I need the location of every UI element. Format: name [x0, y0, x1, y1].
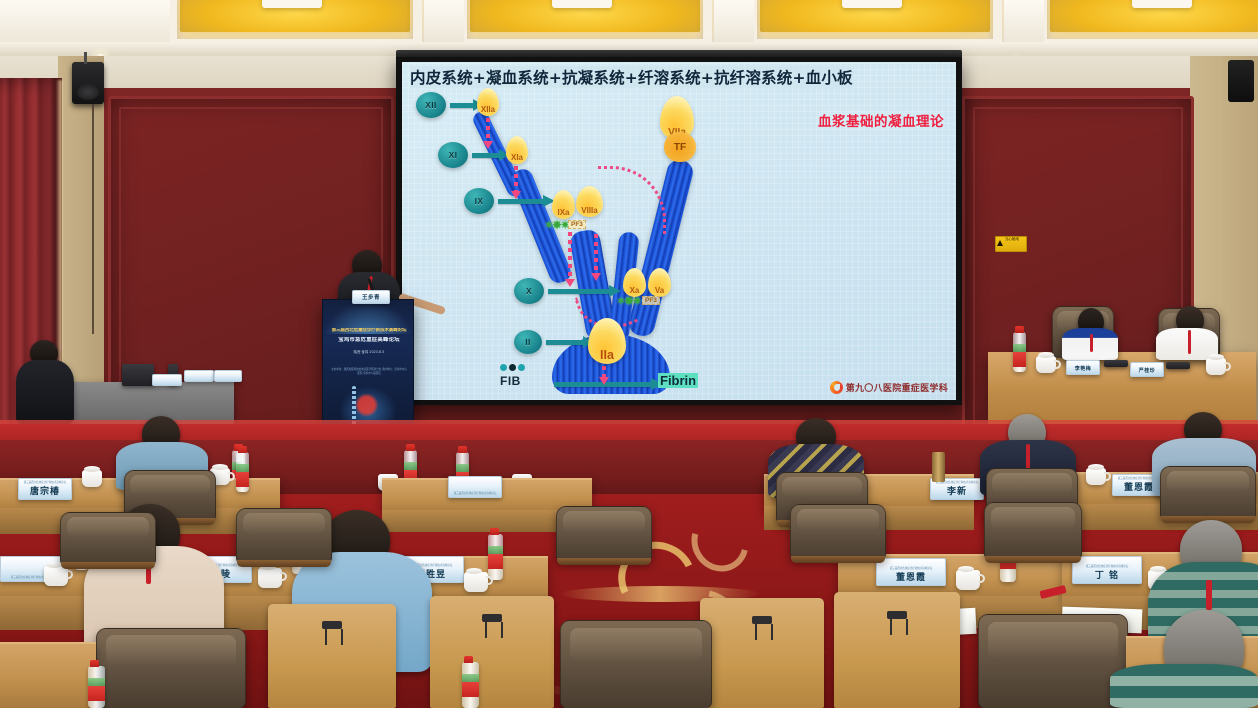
- chair-frame: [985, 556, 1081, 563]
- bottle-cap: [406, 444, 415, 451]
- factor-xia: XIa: [506, 136, 528, 164]
- covered-chair[interactable]: [268, 604, 396, 708]
- audience-chair[interactable]: [236, 508, 332, 564]
- conference-hall-photo: 当心触电 内皮系统+凝血系统+抗凝系统+纤溶系统+抗纤溶系统+血小板 血浆基础的…: [0, 0, 1258, 708]
- warning-triangle-icon: [997, 240, 1003, 246]
- high-voltage-warning-sign: 当心触电: [995, 236, 1027, 252]
- arrow-xii-to-xiia: [450, 103, 474, 108]
- cup-lid: [1088, 464, 1104, 470]
- av-technician-body: [16, 360, 74, 424]
- slide-subtitle: 血浆基础的凝血理论: [818, 110, 944, 130]
- nameplate-name: 董恩霞: [896, 570, 926, 583]
- water-bottle[interactable]: [1013, 332, 1026, 372]
- lectern-nameplate: 王步青: [352, 290, 390, 304]
- audience-chair[interactable]: [556, 506, 652, 562]
- slide-footer-logo: 第九〇八医院重症医学科: [830, 381, 948, 394]
- factor-ixa: IXa: [552, 190, 575, 219]
- fib-dot: [518, 364, 525, 371]
- water-bottle[interactable]: [88, 666, 105, 708]
- cup-lid: [958, 566, 974, 572]
- arrow-ii-to-iia: [546, 340, 584, 345]
- feedback-arrow-xiia: [486, 118, 490, 142]
- factor-label: XI: [449, 150, 458, 160]
- factor-label: TF: [674, 142, 686, 153]
- nameplate-name: 董恩霞: [1124, 480, 1154, 493]
- panelist-2-lanyard: [1188, 330, 1191, 354]
- bottle-label: [1013, 352, 1026, 367]
- loudspeaker: [72, 62, 104, 104]
- front-chair[interactable]: [96, 628, 246, 708]
- loudspeaker: [1228, 60, 1254, 102]
- bottle-label: [236, 472, 249, 487]
- chair-cover-clip: [482, 614, 502, 622]
- fibrinogen-molecule-icon: [500, 364, 525, 371]
- tea-cup[interactable]: [1086, 468, 1106, 485]
- desk-nameplate: [184, 370, 214, 382]
- tea-cup[interactable]: [1036, 356, 1056, 373]
- bottle-cap: [458, 446, 467, 453]
- chair-frame: [557, 558, 651, 565]
- audience-chair[interactable]: [1160, 466, 1256, 520]
- bottle-label: [88, 686, 105, 701]
- factor-viiia: VIIIa: [576, 186, 603, 217]
- audience-chair[interactable]: [60, 512, 156, 566]
- bottle-cap: [464, 656, 473, 663]
- lectern-banner-top-line: 第三届西北危重症诊疗新技术高峰论坛: [327, 328, 411, 334]
- chair-frame: [61, 562, 155, 569]
- audience-lanyard: [1026, 444, 1030, 470]
- factor-label: VIIIa: [581, 206, 597, 215]
- panel-nameplate: 严桂珍: [1130, 362, 1164, 377]
- chair-cover-clip: [887, 611, 907, 619]
- panelist-1-lanyard: [1090, 334, 1093, 352]
- chair-cover-clip: [752, 616, 772, 624]
- factor-xiia: XIIa: [477, 88, 499, 116]
- covered-chair[interactable]: [430, 596, 554, 708]
- factor-ix: IX: [464, 188, 494, 214]
- fibrin-label: Fibrin: [658, 373, 698, 388]
- ceiling-light-box: [842, 0, 902, 8]
- cup-lid: [1038, 352, 1054, 358]
- pf3-label: PF3: [642, 296, 660, 305]
- fibrinogen-label: FIB: [500, 374, 521, 388]
- feedback-arrow-xia: [514, 166, 518, 192]
- arrow-ix-to-ixa: [498, 199, 544, 204]
- bottle-label: [462, 682, 479, 697]
- cup-lid: [466, 568, 482, 574]
- speaker-cable: [92, 104, 94, 334]
- audience-chair[interactable]: [790, 504, 886, 560]
- audience-lanyard: [1206, 580, 1212, 610]
- factor-xa: Xa: [623, 268, 646, 297]
- warning-line-1: 当心触电: [1005, 237, 1019, 241]
- audience-nameplate: 第三届西北危重症诊疗新技术高峰论坛: [448, 476, 502, 498]
- lectern-banner-meta: 陕西·宝鸡 2023.8.5: [327, 350, 411, 355]
- tissue-factor: TF: [664, 132, 696, 162]
- factor-label: XIIa: [481, 105, 495, 114]
- hospital-logo-text: 第九〇八医院重症医学科: [846, 381, 948, 394]
- bottle-cap: [90, 660, 99, 667]
- arrow-xi-to-xia: [472, 153, 500, 158]
- cup-lid: [46, 562, 62, 568]
- audience-table-front-left: [0, 642, 96, 708]
- feedback-arrow-ixa: [568, 232, 572, 280]
- water-bottle[interactable]: [462, 662, 479, 708]
- chair-frame: [791, 556, 885, 563]
- ceiling-light-box: [262, 0, 322, 8]
- factor-label: X: [526, 286, 532, 296]
- nameplate-name: 李新: [947, 484, 967, 497]
- factor-ii: II: [514, 330, 542, 354]
- panel-microphone-base: [1166, 362, 1190, 369]
- tea-cup[interactable]: [258, 568, 282, 588]
- bottle-cap: [490, 528, 499, 535]
- factor-x: X: [514, 278, 544, 304]
- slide-title: 内皮系统+凝血系统+抗凝系统+纤溶系统+抗纤溶系统+血小板: [410, 66, 853, 88]
- nameplate-name: 丁 铭: [1095, 568, 1119, 581]
- panel-microphone-base: [1104, 360, 1128, 367]
- fib-dot: [500, 364, 507, 371]
- factor-label: Va: [655, 286, 664, 295]
- pf3-label: PF3: [568, 220, 586, 229]
- ceiling-light-box: [552, 0, 612, 8]
- hospital-logo-icon: [830, 381, 843, 394]
- factor-label: IX: [475, 196, 484, 206]
- water-bottle[interactable]: [236, 452, 249, 492]
- front-chair[interactable]: [978, 614, 1128, 708]
- cup-lid: [212, 464, 228, 470]
- tea-cup[interactable]: [1206, 358, 1226, 375]
- nameplate-header: 第三届西北危重症诊疗新技术高峰论坛: [454, 492, 496, 495]
- platelet-burst-icon: ✶✸✷: [616, 294, 640, 308]
- cup-lid: [1208, 354, 1224, 360]
- factor-label: XII: [425, 100, 437, 110]
- bottle-cap: [238, 446, 247, 453]
- lectern-nameplate-name: 王步青: [362, 293, 380, 301]
- desk-nameplate: [152, 374, 182, 386]
- audience-body-front: [1110, 664, 1258, 708]
- covered-chair[interactable]: [834, 592, 960, 708]
- tea-cup[interactable]: [44, 566, 68, 586]
- loudspeaker-mount: [84, 52, 87, 64]
- factor-xi: XI: [438, 142, 468, 168]
- audience-nameplate: 第三届西北危重症诊疗新技术高峰论坛 丁 铭: [1072, 556, 1142, 584]
- covered-chair[interactable]: [700, 598, 824, 708]
- feedback-curve-viia-xa: [598, 166, 666, 234]
- water-bottle[interactable]: [488, 534, 503, 580]
- bottle-label: [488, 554, 503, 569]
- audience-chair[interactable]: [984, 502, 1082, 560]
- chair-cover-clip: [322, 621, 342, 629]
- lectern: 第三届西北危重症诊疗新技术高峰论坛 宝鸡市急危重症高峰论坛 陕西·宝鸡 2023…: [322, 299, 414, 433]
- feedback-arrow-tenase: [594, 234, 598, 274]
- platelet-burst-icon: ✶✸✷: [544, 218, 568, 232]
- thermos-flask[interactable]: [932, 452, 945, 482]
- tea-cup[interactable]: [82, 470, 102, 487]
- tea-cup[interactable]: [956, 570, 980, 590]
- nameplate-name: 唐宗椿: [30, 484, 60, 497]
- chair-frame: [237, 560, 331, 567]
- panel-nameplate-name: 李艳梅: [1075, 365, 1092, 372]
- factor-label: IIa: [600, 348, 614, 362]
- audience-nameplate: 第三届西北危重症诊疗新技术高峰论坛 董恩霞: [876, 558, 946, 586]
- audience-nameplate: 第三届西北危重症诊疗新技术高峰论坛 唐宗椿: [18, 478, 72, 500]
- projection-screen: 内皮系统+凝血系统+抗凝系统+纤溶系统+抗纤溶系统+血小板 血浆基础的凝血理论 …: [396, 57, 962, 405]
- ceiling-light-box: [1132, 0, 1192, 8]
- laptop[interactable]: [122, 364, 154, 386]
- factor-label: II: [525, 337, 531, 347]
- lectern-banner-organizers: 主办单位：陕西省医师协会重症医学医师分会 承办单位：宝鸡市中心医院 宝鸡市人民医…: [331, 368, 407, 376]
- desk-nameplate: [214, 370, 242, 382]
- tea-cup[interactable]: [464, 572, 488, 592]
- panel-nameplate-name: 严桂珍: [1139, 367, 1156, 374]
- bottle-cap: [1015, 326, 1024, 333]
- factor-va: Va: [648, 268, 671, 297]
- slide-canvas: 内皮系统+凝血系统+抗凝系统+纤溶系统+抗纤溶系统+血小板 血浆基础的凝血理论 …: [402, 62, 956, 400]
- factor-label: XIa: [511, 153, 523, 162]
- factor-label: IXa: [557, 208, 569, 217]
- front-chair[interactable]: [560, 620, 712, 708]
- panel-nameplate: 李艳梅: [1066, 360, 1100, 375]
- factor-xii: XII: [416, 92, 446, 118]
- cup-lid: [84, 466, 100, 472]
- fib-dot: [509, 364, 516, 371]
- lectern-banner-main-line: 宝鸡市急危重症高峰论坛: [327, 337, 411, 344]
